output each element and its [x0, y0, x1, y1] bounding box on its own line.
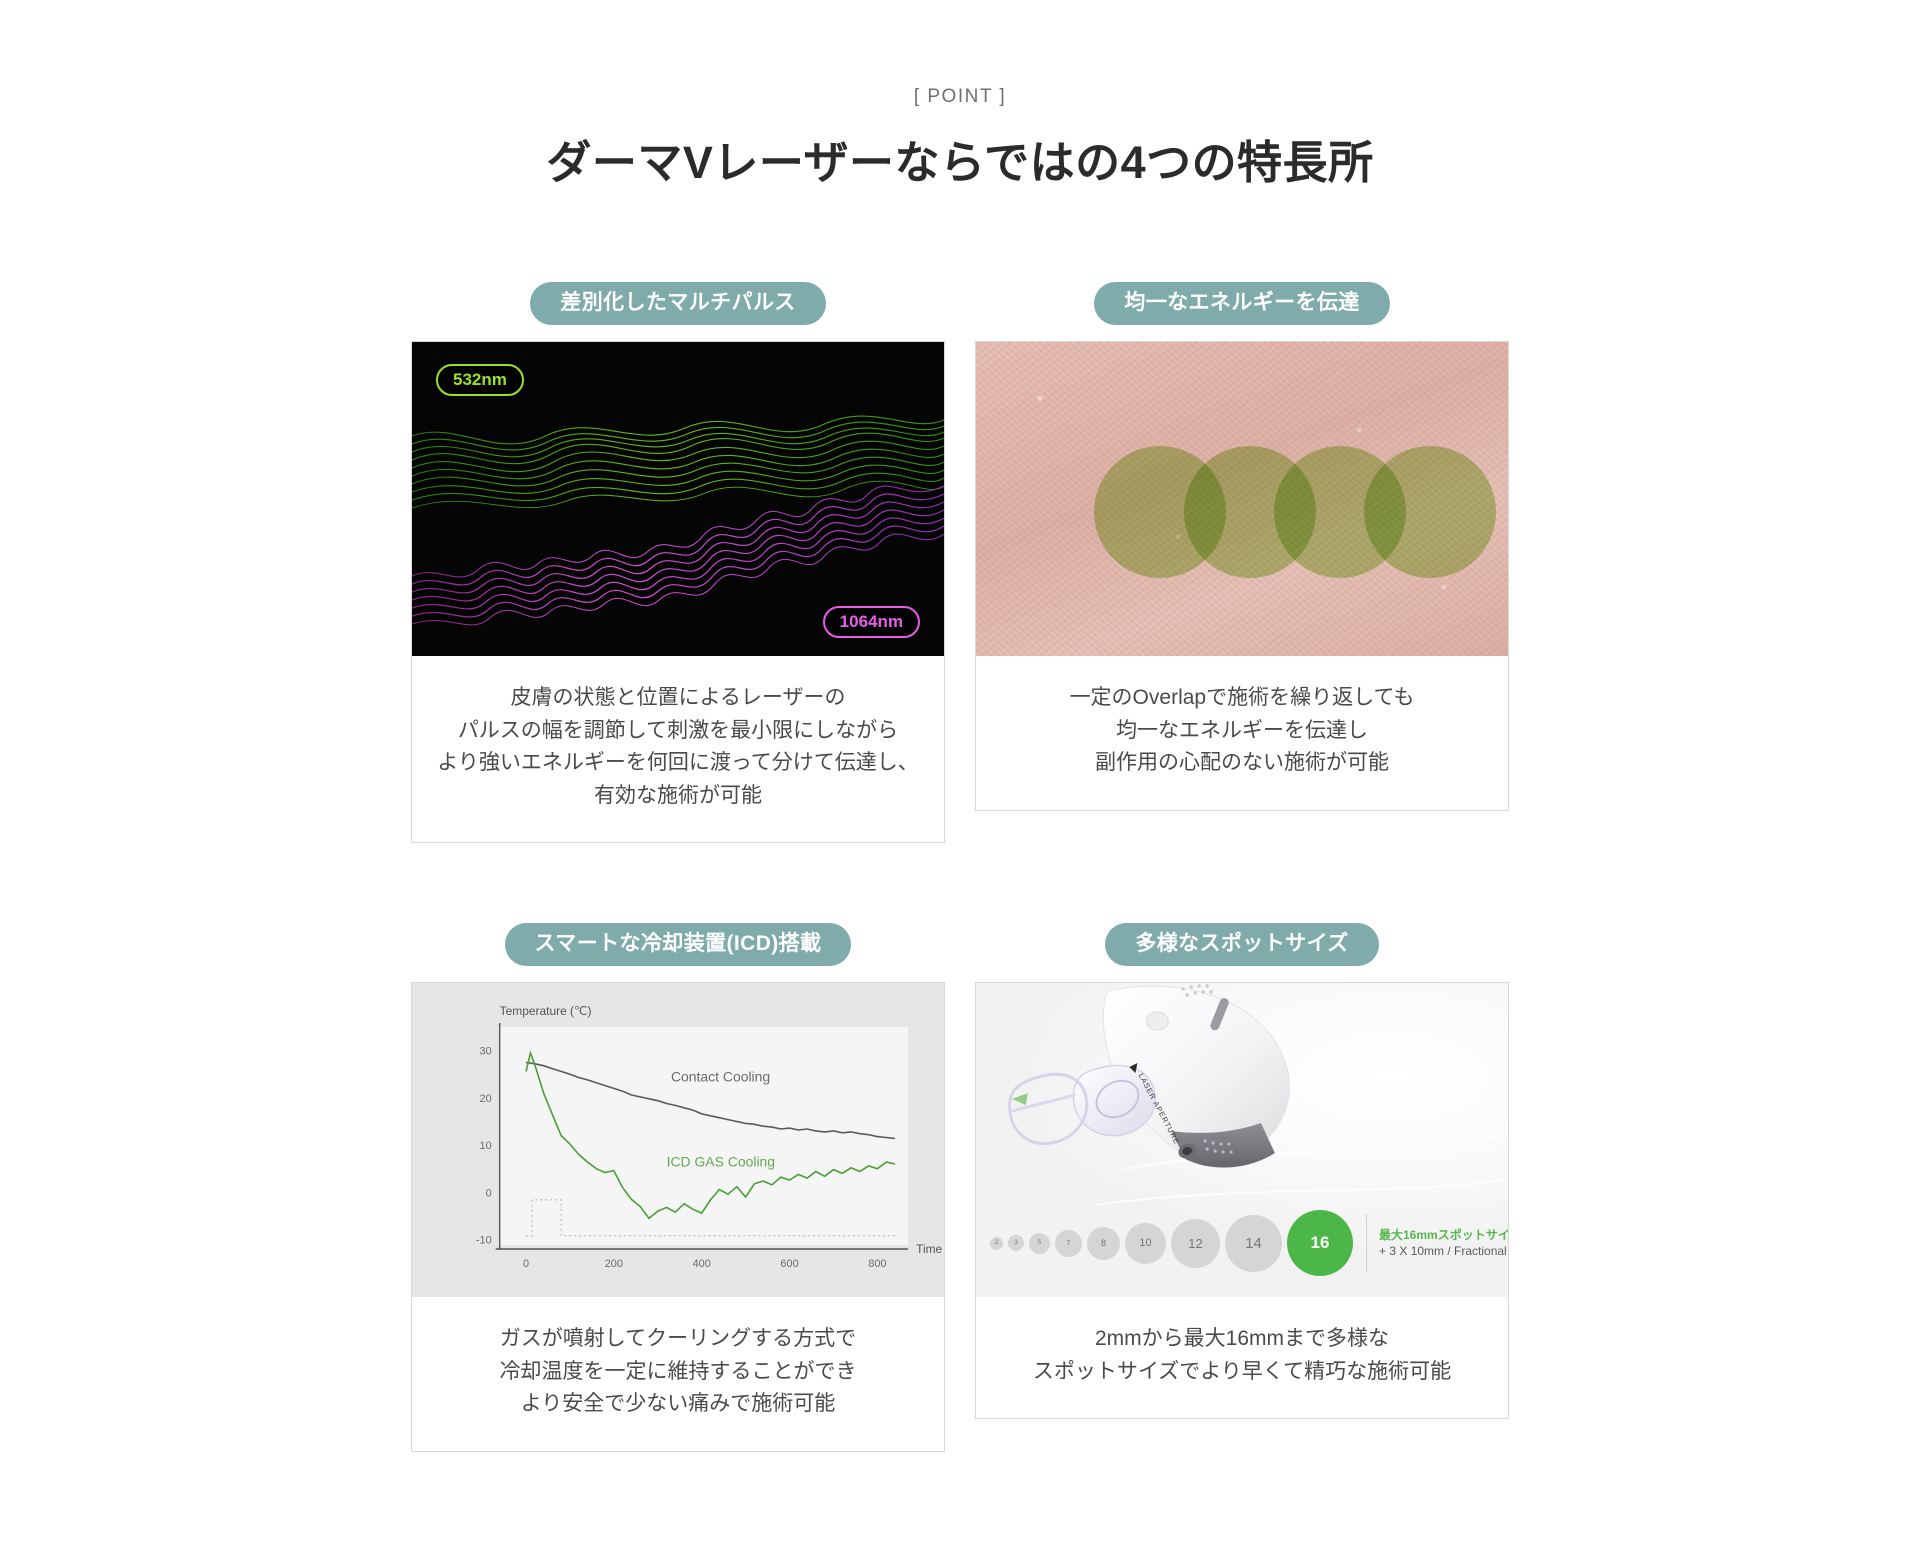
page-header: [ POINT ] ダーマVレーザーならではの4つの特長所	[0, 0, 1920, 191]
chart-x-tick: 0	[523, 1258, 529, 1270]
page-title: ダーマVレーザーならではの4つの特長所	[0, 126, 1920, 191]
spot-size-dot-14[interactable]: 14	[1225, 1215, 1282, 1272]
caption-line: 均一なエネルギーを伝達し	[986, 715, 1498, 748]
chart-annotation: ICD GAS Cooling	[667, 1154, 775, 1170]
caption-line: ガスが噴射してクーリングする方式で	[422, 1323, 934, 1356]
chart-y-tick: 20	[480, 1093, 492, 1105]
feature-card-multipulse: 差別化したマルチパルス	[411, 282, 945, 843]
spot-size-dot-3[interactable]: 3	[1008, 1235, 1024, 1251]
wavelength-label-1064: 1064nm	[823, 606, 920, 638]
spot-size-dot-12[interactable]: 12	[1171, 1219, 1220, 1268]
card-caption-multipulse: 皮膚の状態と位置によるレーザーの パルスの幅を調節して刺激を最小限にしながら よ…	[412, 656, 944, 842]
card-caption-uniform-energy: 一定のOverlapで施術を繰り返しても 均一なエネルギーを伝達し 副作用の心配…	[976, 656, 1508, 810]
handpiece-device-image: LASER APERTURE 2357810121416最大16mmスポットサイ…	[976, 983, 1508, 1297]
chart-y-tick: 0	[486, 1187, 492, 1199]
spot-size-dot-16[interactable]: 16	[1287, 1210, 1353, 1276]
caption-line: 有効な施術が可能	[422, 780, 934, 813]
spot-size-row: 2357810121416最大16mmスポットサイズ+ 3 X 10mm / F…	[990, 1205, 1494, 1281]
card-body: -100102030 0200400600800 Contact Cooling…	[411, 982, 945, 1452]
caption-line: 冷却温度を一定に維持することができ	[422, 1356, 934, 1389]
multipulse-waveform-image: 532nm 1064nm	[412, 342, 944, 656]
caption-line: 2mmから最大16mmまで多様な	[986, 1323, 1498, 1356]
chart-y-tick: 10	[480, 1140, 492, 1152]
spot-row-divider	[1366, 1214, 1367, 1272]
caption-line: スポットサイズでより早くて精巧な施術可能	[986, 1356, 1498, 1389]
card-body: 一定のOverlapで施術を繰り返しても 均一なエネルギーを伝達し 副作用の心配…	[975, 341, 1509, 811]
card-body: LASER APERTURE 2357810121416最大16mmスポットサイ…	[975, 982, 1509, 1419]
chart-y-tick: 30	[480, 1046, 492, 1058]
chart-annotation: Contact Cooling	[671, 1068, 770, 1084]
chart-x-tick: 800	[868, 1258, 886, 1270]
feature-card-spot-sizes: 多様なスポットサイズ	[975, 923, 1509, 1452]
badge-wrap: スマートな冷却装置(ICD)搭載	[411, 923, 945, 966]
cooling-line-chart: -100102030 0200400600800 Contact Cooling…	[412, 983, 944, 1297]
spot-legend-line2: + 3 X 10mm / Fractional	[1379, 1243, 1508, 1259]
spot-size-dot-10[interactable]: 10	[1125, 1223, 1166, 1264]
caption-line: 一定のOverlapで施術を繰り返しても	[986, 682, 1498, 715]
caption-line: パルスの幅を調節して刺激を最小限にしながら	[422, 715, 934, 748]
spot-size-dot-5[interactable]: 5	[1029, 1233, 1050, 1254]
card-caption-spot-sizes: 2mmから最大16mmまで多様な スポットサイズでより早くて精巧な施術可能	[976, 1297, 1508, 1418]
caption-line: より強いエネルギーを何回に渡って分けて伝達し、	[422, 747, 934, 780]
badge-wrap: 差別化したマルチパルス	[411, 282, 945, 325]
wavelength-label-532: 532nm	[436, 364, 524, 396]
chart-x-tick: 400	[693, 1258, 711, 1270]
overlap-spot-circle	[1364, 446, 1496, 578]
point-eyebrow: [ POINT ]	[0, 86, 1920, 108]
badge-wrap: 多様なスポットサイズ	[975, 923, 1509, 966]
page-root: [ POINT ] ダーマVレーザーならではの4つの特長所 差別化したマルチパル…	[0, 0, 1920, 1552]
chart-x-axis-label: Time (ms)	[916, 1242, 944, 1256]
chart-x-tick: 200	[605, 1258, 623, 1270]
spot-size-dot-2[interactable]: 2	[990, 1237, 1003, 1250]
feature-card-icd-cooling: スマートな冷却装置(ICD)搭載 -100102030 020040060080…	[411, 923, 945, 1452]
spot-size-dot-7[interactable]: 7	[1055, 1230, 1082, 1257]
badge-wrap: 均一なエネルギーを伝達	[975, 282, 1509, 325]
caption-line: より安全で少ない痛みで施術可能	[422, 1388, 934, 1421]
chart-y-tick: -10	[476, 1235, 492, 1247]
card-badge-icd-cooling: スマートな冷却装置(ICD)搭載	[505, 923, 852, 966]
cooling-chart-image: -100102030 0200400600800 Contact Cooling…	[412, 983, 944, 1297]
chart-x-tick: 600	[780, 1258, 798, 1270]
caption-line: 皮膚の状態と位置によるレーザーの	[422, 682, 934, 715]
spot-legend-line1: 最大16mmスポットサイズ	[1379, 1227, 1508, 1243]
card-body: 532nm 1064nm 皮膚の状態と位置によるレーザーの パルスの幅を調節して…	[411, 341, 945, 843]
skin-overlap-image	[976, 342, 1508, 656]
card-caption-icd-cooling: ガスが噴射してクーリングする方式で 冷却温度を一定に維持することができ より安全…	[412, 1297, 944, 1451]
chart-y-axis-label: Temperature (℃)	[500, 1004, 592, 1018]
spot-size-dot-8[interactable]: 8	[1087, 1227, 1120, 1260]
card-badge-multipulse: 差別化したマルチパルス	[530, 282, 825, 325]
feature-card-uniform-energy: 均一なエネルギーを伝達 一定のOverlapで施術を繰り返しても 均一なエネルギ…	[975, 282, 1509, 843]
feature-card-grid: 差別化したマルチパルス	[411, 282, 1509, 1452]
caption-line: 副作用の心配のない施術が可能	[986, 747, 1498, 780]
spot-size-legend: 最大16mmスポットサイズ+ 3 X 10mm / Fractional	[1379, 1227, 1508, 1259]
card-badge-uniform-energy: 均一なエネルギーを伝達	[1094, 282, 1389, 325]
card-badge-spot-sizes: 多様なスポットサイズ	[1105, 923, 1378, 966]
